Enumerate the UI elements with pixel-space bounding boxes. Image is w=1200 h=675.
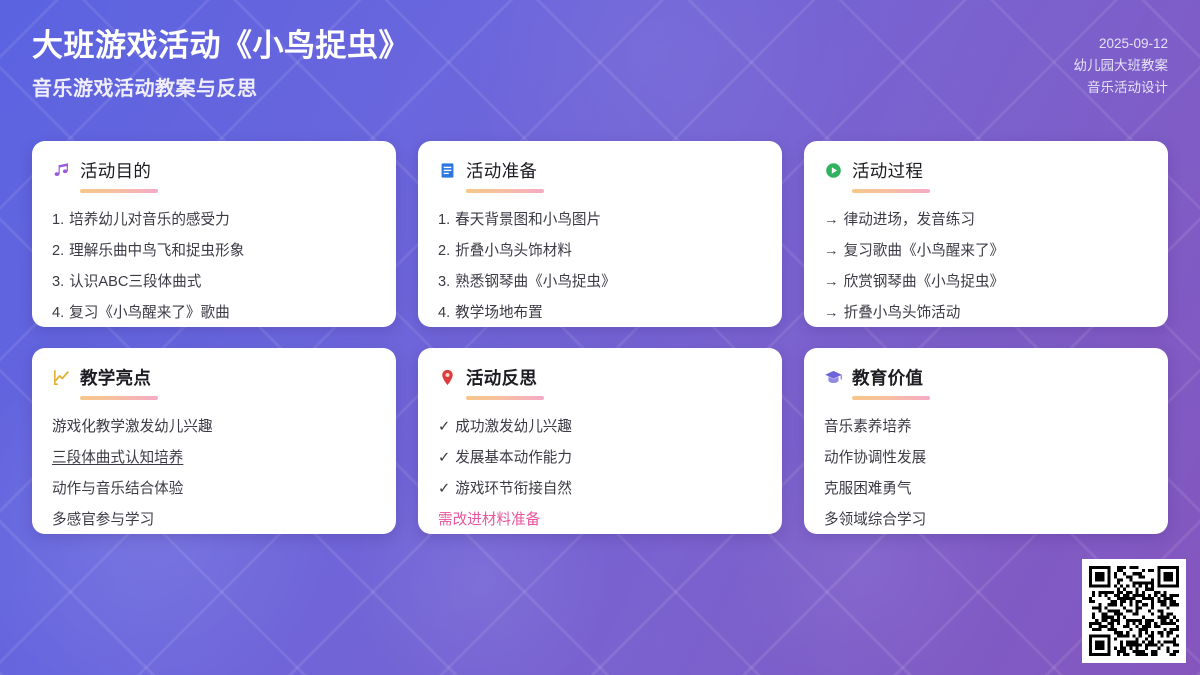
page-title: 大班游戏活动《小鸟捉虫》 <box>32 26 410 66</box>
list-item-text: 成功激发幼儿兴趣 <box>455 416 572 438</box>
header-meta: 2025-09-12 幼儿园大班教案 音乐活动设计 <box>1074 33 1169 99</box>
card-title: 活动过程 <box>852 158 923 183</box>
card-title: 活动目的 <box>80 158 151 183</box>
list-item: →复习歌曲《小鸟醒来了》 <box>824 235 1148 266</box>
list-item: 动作协调性发展 <box>824 442 1148 473</box>
card-accent-bar <box>80 189 158 193</box>
meta-date: 2025-09-12 <box>1074 33 1169 55</box>
list-item-text: 游戏化教学激发幼儿兴趣 <box>52 416 213 438</box>
list-item-bullet: 3. <box>52 271 64 293</box>
list-item: 1.培养幼儿对音乐的感受力 <box>52 204 376 235</box>
list-item: 游戏化教学激发幼儿兴趣 <box>52 411 376 442</box>
card-activity-preparation: 活动准备1.春天背景图和小鸟图片2.折叠小鸟头饰材料3.熟悉钢琴曲《小鸟捉虫》4… <box>418 141 782 327</box>
list-item-text: 律动进场，发音练习 <box>844 209 975 231</box>
list-item: 三段体曲式认知培养 <box>52 442 376 473</box>
list-item: 需改进材料准备 <box>438 505 762 534</box>
list-item-text: 多感官参与学习 <box>52 509 154 531</box>
list-item: →欣赏钢琴曲《小鸟捉虫》 <box>824 266 1148 297</box>
list-item-text: 折叠小鸟头饰活动 <box>844 302 961 324</box>
list-item: ✓成功激发幼儿兴趣 <box>438 411 762 442</box>
card-educational-value: 教育价值音乐素养培养动作协调性发展克服困难勇气多领域综合学习 <box>804 348 1168 534</box>
card-header: 活动反思 <box>438 365 762 390</box>
list-item-text: 发展基本动作能力 <box>455 447 572 469</box>
meta-category: 幼儿园大班教案 <box>1074 55 1169 77</box>
list-item-bullet: 4. <box>52 302 64 324</box>
list-item-bullet: 2. <box>438 240 450 262</box>
list-item: 2.理解乐曲中鸟飞和捉虫形象 <box>52 235 376 266</box>
list-item: 1.春天背景图和小鸟图片 <box>438 204 762 235</box>
card-accent-bar <box>852 189 930 193</box>
card-activity-process: 活动过程→律动进场，发音练习→复习歌曲《小鸟醒来了》→欣赏钢琴曲《小鸟捉虫》→折… <box>804 141 1168 327</box>
list-item-text: 游戏环节衔接自然 <box>455 478 572 500</box>
graduation-cap-icon <box>824 368 843 387</box>
list-item: 4.复习《小鸟醒来了》歌曲 <box>52 298 376 327</box>
list-item-bullet: → <box>824 271 839 293</box>
list-item-text: 春天背景图和小鸟图片 <box>455 209 601 231</box>
list-item: →折叠小鸟头饰活动 <box>824 298 1148 327</box>
play-circle-icon <box>824 161 843 180</box>
list-item: 3.熟悉钢琴曲《小鸟捉虫》 <box>438 266 762 297</box>
list-item: ✓游戏环节衔接自然 <box>438 473 762 504</box>
list-item: 2.折叠小鸟头饰材料 <box>438 235 762 266</box>
list-item-text: 熟悉钢琴曲《小鸟捉虫》 <box>455 271 616 293</box>
list-item: 克服困难勇气 <box>824 473 1148 504</box>
card-list: 游戏化教学激发幼儿兴趣三段体曲式认知培养动作与音乐结合体验多感官参与学习 <box>52 411 376 534</box>
cards-grid: 活动目的1.培养幼儿对音乐的感受力2.理解乐曲中鸟飞和捉虫形象3.认识ABC三段… <box>32 141 1168 534</box>
list-item-bullet: 2. <box>52 240 64 262</box>
list-item-bullet: 1. <box>52 209 64 231</box>
card-accent-bar <box>466 189 544 193</box>
list-item-text: 理解乐曲中鸟飞和捉虫形象 <box>69 240 244 262</box>
card-header: 教学亮点 <box>52 365 376 390</box>
list-item-text: 折叠小鸟头饰材料 <box>455 240 572 262</box>
list-item-bullet: ✓ <box>438 478 450 500</box>
list-item: ✓发展基本动作能力 <box>438 442 762 473</box>
list-item-bullet: ✓ <box>438 416 450 438</box>
list-item-bullet: → <box>824 240 839 262</box>
list-item-text: 认识ABC三段体曲式 <box>69 271 201 293</box>
list-item-text: 培养幼儿对音乐的感受力 <box>69 209 230 231</box>
list-item-text: 需改进材料准备 <box>438 509 540 531</box>
list-item-bullet: 3. <box>438 271 450 293</box>
card-list: ✓成功激发幼儿兴趣✓发展基本动作能力✓游戏环节衔接自然需改进材料准备 <box>438 411 762 534</box>
list-item-bullet: → <box>824 302 839 324</box>
list-item: 动作与音乐结合体验 <box>52 473 376 504</box>
list-item-text: 复习歌曲《小鸟醒来了》 <box>844 240 1005 262</box>
list-item-text: 动作与音乐结合体验 <box>52 478 183 500</box>
pin-icon <box>438 368 457 387</box>
list-item-text: 三段体曲式认知培养 <box>52 447 183 469</box>
title-block: 大班游戏活动《小鸟捉虫》 音乐游戏活动教案与反思 <box>32 26 410 101</box>
card-activity-goals: 活动目的1.培养幼儿对音乐的感受力2.理解乐曲中鸟飞和捉虫形象3.认识ABC三段… <box>32 141 396 327</box>
list-item-bullet: ✓ <box>438 447 450 469</box>
list-item: 音乐素养培养 <box>824 411 1148 442</box>
list-item: →律动进场，发音练习 <box>824 204 1148 235</box>
list-item: 多领域综合学习 <box>824 505 1148 534</box>
list-item: 4.教学场地布置 <box>438 298 762 327</box>
card-list: →律动进场，发音练习→复习歌曲《小鸟醒来了》→欣赏钢琴曲《小鸟捉虫》→折叠小鸟头… <box>824 204 1148 327</box>
qr-code-container[interactable] <box>1082 559 1186 663</box>
card-teaching-highlights: 教学亮点游戏化教学激发幼儿兴趣三段体曲式认知培养动作与音乐结合体验多感官参与学习 <box>32 348 396 534</box>
list-item-text: 复习《小鸟醒来了》歌曲 <box>69 302 230 324</box>
card-title: 活动准备 <box>466 158 537 183</box>
list-item-bullet: → <box>824 209 839 231</box>
page-subtitle: 音乐游戏活动教案与反思 <box>32 72 410 101</box>
qr-code <box>1089 566 1179 656</box>
card-accent-bar <box>80 396 158 400</box>
card-activity-reflection: 活动反思✓成功激发幼儿兴趣✓发展基本动作能力✓游戏环节衔接自然需改进材料准备 <box>418 348 782 534</box>
chart-line-icon <box>52 368 71 387</box>
card-list: 1.春天背景图和小鸟图片2.折叠小鸟头饰材料3.熟悉钢琴曲《小鸟捉虫》4.教学场… <box>438 204 762 327</box>
list-item: 多感官参与学习 <box>52 505 376 534</box>
card-list: 1.培养幼儿对音乐的感受力2.理解乐曲中鸟飞和捉虫形象3.认识ABC三段体曲式4… <box>52 204 376 327</box>
card-title: 教学亮点 <box>80 365 151 390</box>
list-item-text: 音乐素养培养 <box>824 416 912 438</box>
music-note-icon <box>52 161 71 180</box>
list-item-text: 教学场地布置 <box>455 302 543 324</box>
header: 大班游戏活动《小鸟捉虫》 音乐游戏活动教案与反思 2025-09-12 幼儿园大… <box>0 0 1200 128</box>
card-header: 教育价值 <box>824 365 1148 390</box>
card-accent-bar <box>852 396 930 400</box>
card-list: 音乐素养培养动作协调性发展克服困难勇气多领域综合学习 <box>824 411 1148 534</box>
meta-subject: 音乐活动设计 <box>1074 77 1169 99</box>
card-header: 活动目的 <box>52 158 376 183</box>
blue-book-icon <box>438 161 457 180</box>
card-header: 活动过程 <box>824 158 1148 183</box>
card-accent-bar <box>466 396 544 400</box>
card-title: 教育价值 <box>852 365 923 390</box>
list-item-bullet: 4. <box>438 302 450 324</box>
list-item-bullet: 1. <box>438 209 450 231</box>
card-header: 活动准备 <box>438 158 762 183</box>
list-item: 3.认识ABC三段体曲式 <box>52 266 376 297</box>
card-title: 活动反思 <box>466 365 537 390</box>
list-item-text: 多领域综合学习 <box>824 509 926 531</box>
list-item-text: 欣赏钢琴曲《小鸟捉虫》 <box>844 271 1005 293</box>
list-item-text: 动作协调性发展 <box>824 447 926 469</box>
list-item-text: 克服困难勇气 <box>824 478 912 500</box>
